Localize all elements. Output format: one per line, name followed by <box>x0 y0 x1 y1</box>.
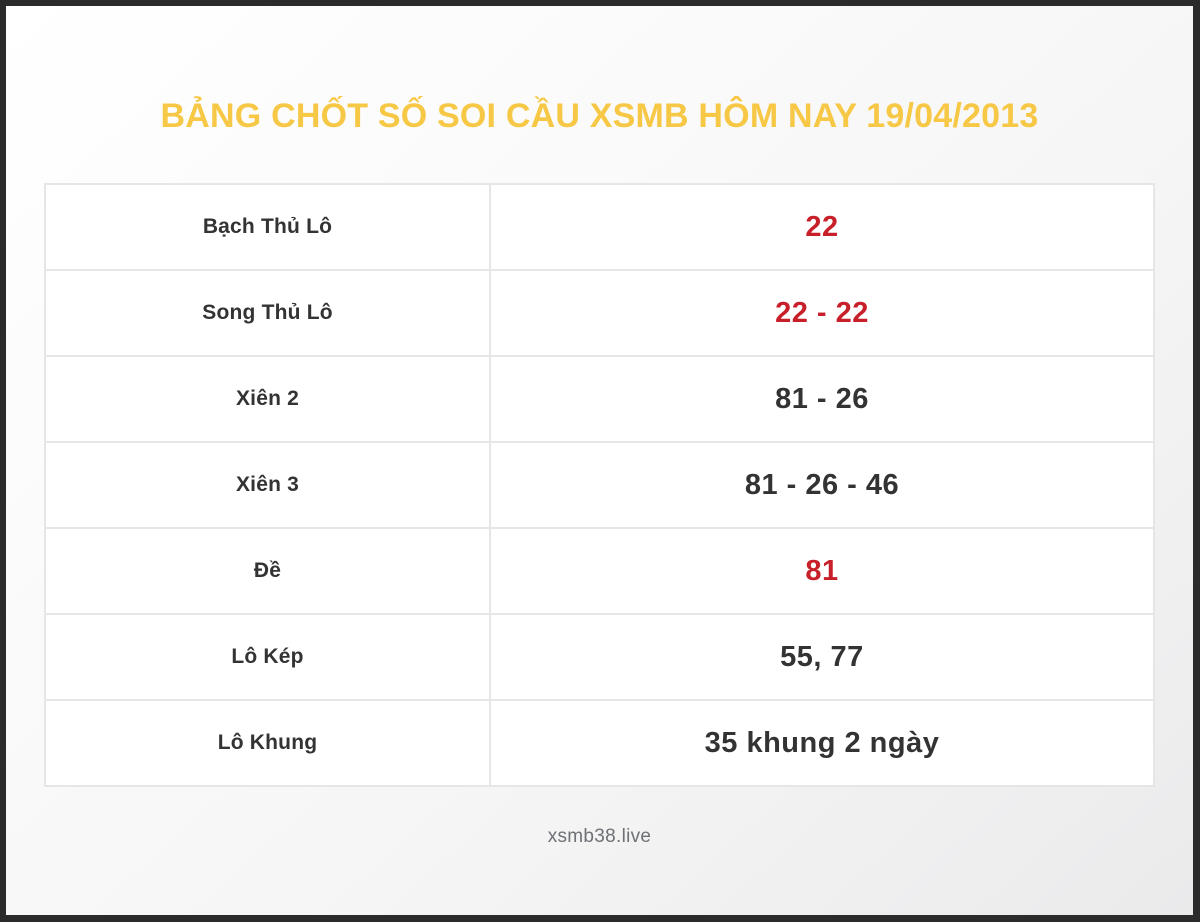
row-label: Xiên 2 <box>45 356 490 442</box>
table-row: Đề81 <box>45 528 1154 614</box>
table-row: Xiên 281 - 26 <box>45 356 1154 442</box>
row-label: Lô Kép <box>45 614 490 700</box>
site-watermark: xsmb38.live <box>548 826 652 847</box>
page-title-container: BẢNG CHỐT SỐ SOI CẦU XSMB HÔM NAY 19/04/… <box>6 98 1193 135</box>
row-value: 35 khung 2 ngày <box>490 700 1154 786</box>
row-label: Xiên 3 <box>45 442 490 528</box>
lottery-prediction-table: Bạch Thủ Lô22Song Thủ Lô22 - 22Xiên 281 … <box>44 183 1155 787</box>
row-label: Song Thủ Lô <box>45 270 490 356</box>
footer: xsmb38.live <box>6 826 1193 848</box>
table-row: Lô Khung35 khung 2 ngày <box>45 700 1154 786</box>
row-label: Bạch Thủ Lô <box>45 184 490 270</box>
row-value: 81 - 26 <box>490 356 1154 442</box>
table-row: Lô Kép55, 77 <box>45 614 1154 700</box>
row-value: 22 <box>490 184 1154 270</box>
row-label: Đề <box>45 528 490 614</box>
table-body: Bạch Thủ Lô22Song Thủ Lô22 - 22Xiên 281 … <box>45 184 1154 786</box>
table-row: Song Thủ Lô22 - 22 <box>45 270 1154 356</box>
row-value: 81 - 26 - 46 <box>490 442 1154 528</box>
page-frame: BẢNG CHỐT SỐ SOI CẦU XSMB HÔM NAY 19/04/… <box>0 0 1200 922</box>
page-canvas: BẢNG CHỐT SỐ SOI CẦU XSMB HÔM NAY 19/04/… <box>6 6 1193 915</box>
page-title: BẢNG CHỐT SỐ SOI CẦU XSMB HÔM NAY 19/04/… <box>161 98 1039 135</box>
row-value: 55, 77 <box>490 614 1154 700</box>
table-row: Xiên 381 - 26 - 46 <box>45 442 1154 528</box>
row-label: Lô Khung <box>45 700 490 786</box>
table-row: Bạch Thủ Lô22 <box>45 184 1154 270</box>
row-value: 22 - 22 <box>490 270 1154 356</box>
row-value: 81 <box>490 528 1154 614</box>
